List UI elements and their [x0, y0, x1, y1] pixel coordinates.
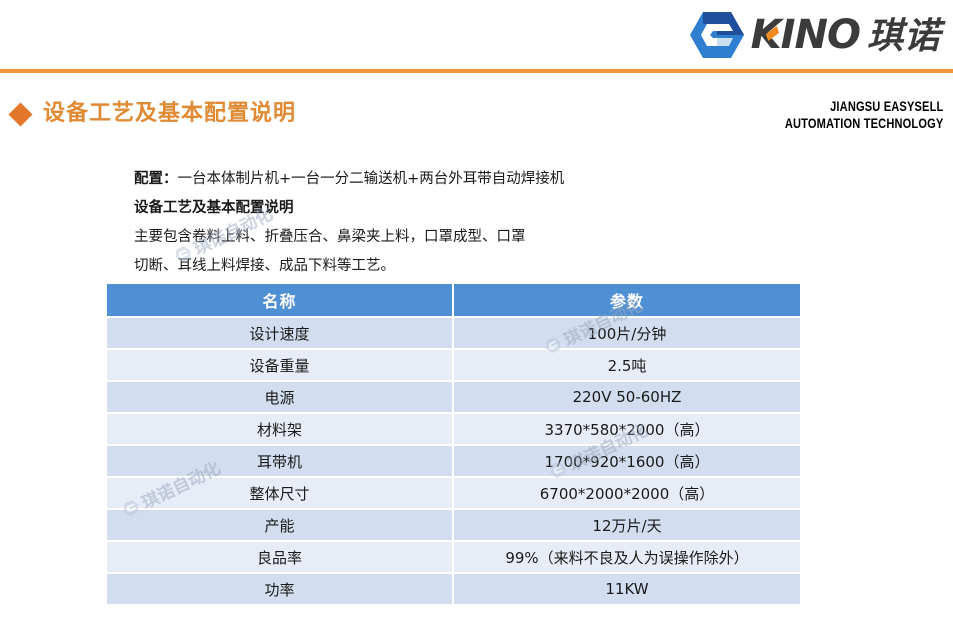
row-value: 11KW [454, 574, 800, 604]
column-header-parameter: 参数 [454, 284, 800, 318]
row-name: 良品率 [107, 542, 454, 574]
row-name: 产能 [107, 510, 454, 542]
table-row: 耳带机 1700*920*1600（高） [107, 446, 800, 478]
row-name: 设计速度 [107, 318, 454, 350]
section-heading: 设备工艺及基本配置说明 [12, 103, 296, 125]
row-value: 99%（来料不良及人为误操作除外） [454, 542, 800, 574]
config-label: 配置： [134, 171, 178, 187]
process-subtitle: 设备工艺及基本配置说明 [134, 194, 694, 223]
row-value: 12万片/天 [454, 510, 800, 542]
row-name: 整体尺寸 [107, 478, 454, 510]
table-row: 设计速度 100片/分钟 [107, 318, 800, 350]
row-value: 2.5吨 [454, 350, 800, 382]
table-header-row: 名称 参数 [107, 284, 800, 318]
row-name: 设备重量 [107, 350, 454, 382]
brand-latin-text: KINO [751, 15, 860, 55]
header-divider-rule [0, 69, 953, 73]
table-row: 设备重量 2.5吨 [107, 350, 800, 382]
process-line-2: 切断、耳线上料焊接、成品下料等工艺。 [134, 252, 694, 281]
table-row: 产能 12万片/天 [107, 510, 800, 542]
table-row: 整体尺寸 6700*2000*2000（高） [107, 478, 800, 510]
table-row: 良品率 99%（来料不良及人为误操作除外） [107, 542, 800, 574]
config-value: 一台本体制片机+一台一分二输送机+两台外耳带自动焊接机 [178, 171, 565, 187]
row-name: 功率 [107, 574, 454, 604]
row-name: 材料架 [107, 414, 454, 446]
row-value: 1700*920*1600（高） [454, 446, 800, 478]
row-name: 电源 [107, 382, 454, 414]
table-row: 功率 11KW [107, 574, 800, 604]
kino-hexagon-logo-mark [689, 10, 745, 60]
brand-wordmark: KINO 琪诺 [751, 15, 941, 55]
row-value: 220V 50-60HZ [454, 382, 800, 414]
brand-logo: KINO 琪诺 [689, 6, 941, 64]
table-row: 电源 220V 50-60HZ [107, 382, 800, 414]
diamond-bullet-icon [8, 102, 32, 126]
section-title-text: 设备工艺及基本配置说明 [43, 103, 296, 125]
config-line: 配置：一台本体制片机+一台一分二输送机+两台外耳带自动焊接机 [134, 165, 694, 194]
company-name-english: JIANGSU EASYSELL AUTOMATION TECHNOLOGY [784, 98, 943, 133]
row-value: 3370*580*2000（高） [454, 414, 800, 446]
process-line-1: 主要包含卷料上料、折叠压合、鼻梁夹上料，口罩成型、口罩 [134, 223, 694, 252]
table-row: 材料架 3370*580*2000（高） [107, 414, 800, 446]
row-value: 6700*2000*2000（高） [454, 478, 800, 510]
row-name: 耳带机 [107, 446, 454, 478]
column-header-name: 名称 [107, 284, 454, 318]
brand-chinese-text: 琪诺 [867, 19, 941, 55]
spec-table: 名称 参数 设计速度 100片/分钟 设备重量 2.5吨 电源 220V 50-… [107, 284, 800, 604]
row-value: 100片/分钟 [454, 318, 800, 350]
description-block: 配置：一台本体制片机+一台一分二输送机+两台外耳带自动焊接机 设备工艺及基本配置… [134, 165, 694, 281]
